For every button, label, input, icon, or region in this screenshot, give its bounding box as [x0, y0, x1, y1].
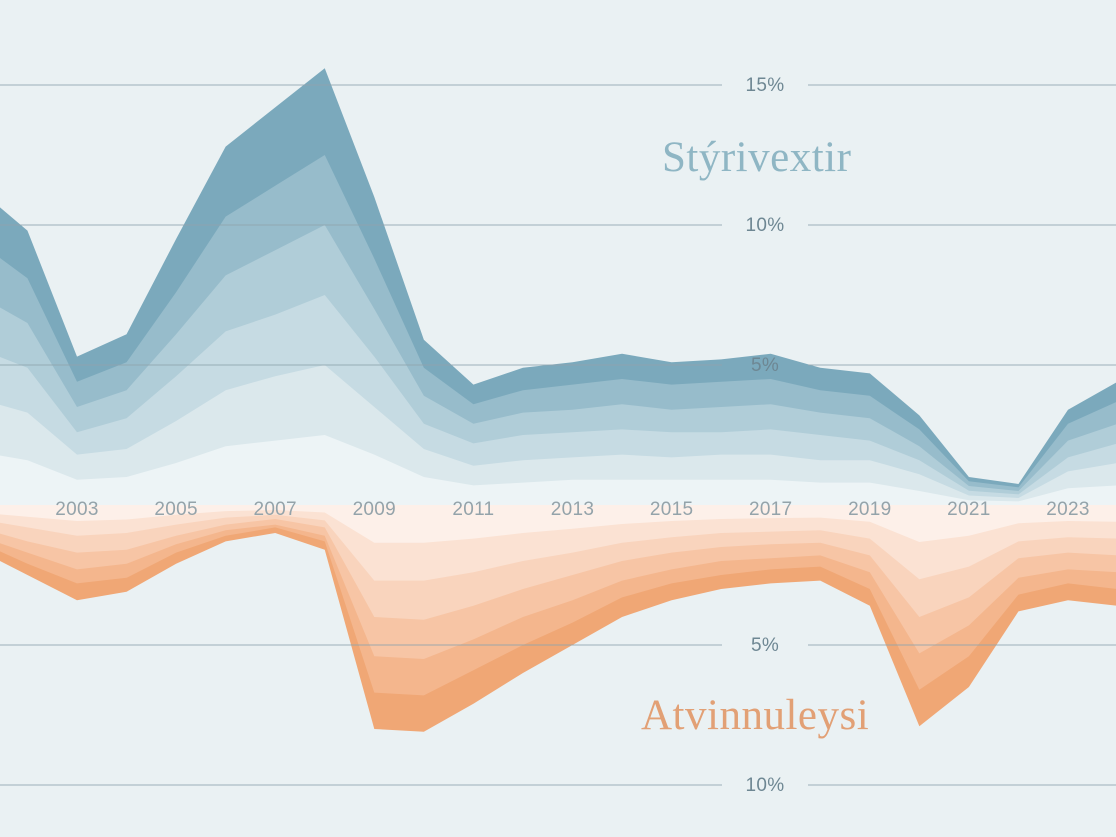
- x-tick-2007: 2007: [253, 499, 296, 520]
- y-tick-5pct: 5%: [751, 355, 779, 376]
- y-tick-10pct: 10%: [746, 215, 785, 236]
- x-tick-2021: 2021: [947, 499, 990, 520]
- y-tick-15pct: 15%: [746, 75, 785, 96]
- mirrored-stream-chart: 5%10%15%5%10% 20032005200720092011201320…: [0, 0, 1116, 837]
- x-tick-2013: 2013: [551, 499, 594, 520]
- x-tick-2009: 2009: [353, 499, 396, 520]
- x-tick-2015: 2015: [650, 499, 693, 520]
- x-tick-2003: 2003: [55, 499, 98, 520]
- series-label-rates: Stýrivextir: [662, 134, 851, 181]
- x-tick-2005: 2005: [154, 499, 197, 520]
- x-tick-2023: 2023: [1046, 499, 1089, 520]
- y-tick-10pct: 10%: [746, 775, 785, 796]
- x-tick-2019: 2019: [848, 499, 891, 520]
- x-tick-2017: 2017: [749, 499, 792, 520]
- x-tick-2011: 2011: [452, 499, 494, 520]
- y-tick-5pct: 5%: [751, 635, 779, 656]
- chart-canvas: 5%10%15%5%10% 20032005200720092011201320…: [0, 0, 1116, 837]
- series-label-unemployment: Atvinnuleysi: [641, 692, 869, 739]
